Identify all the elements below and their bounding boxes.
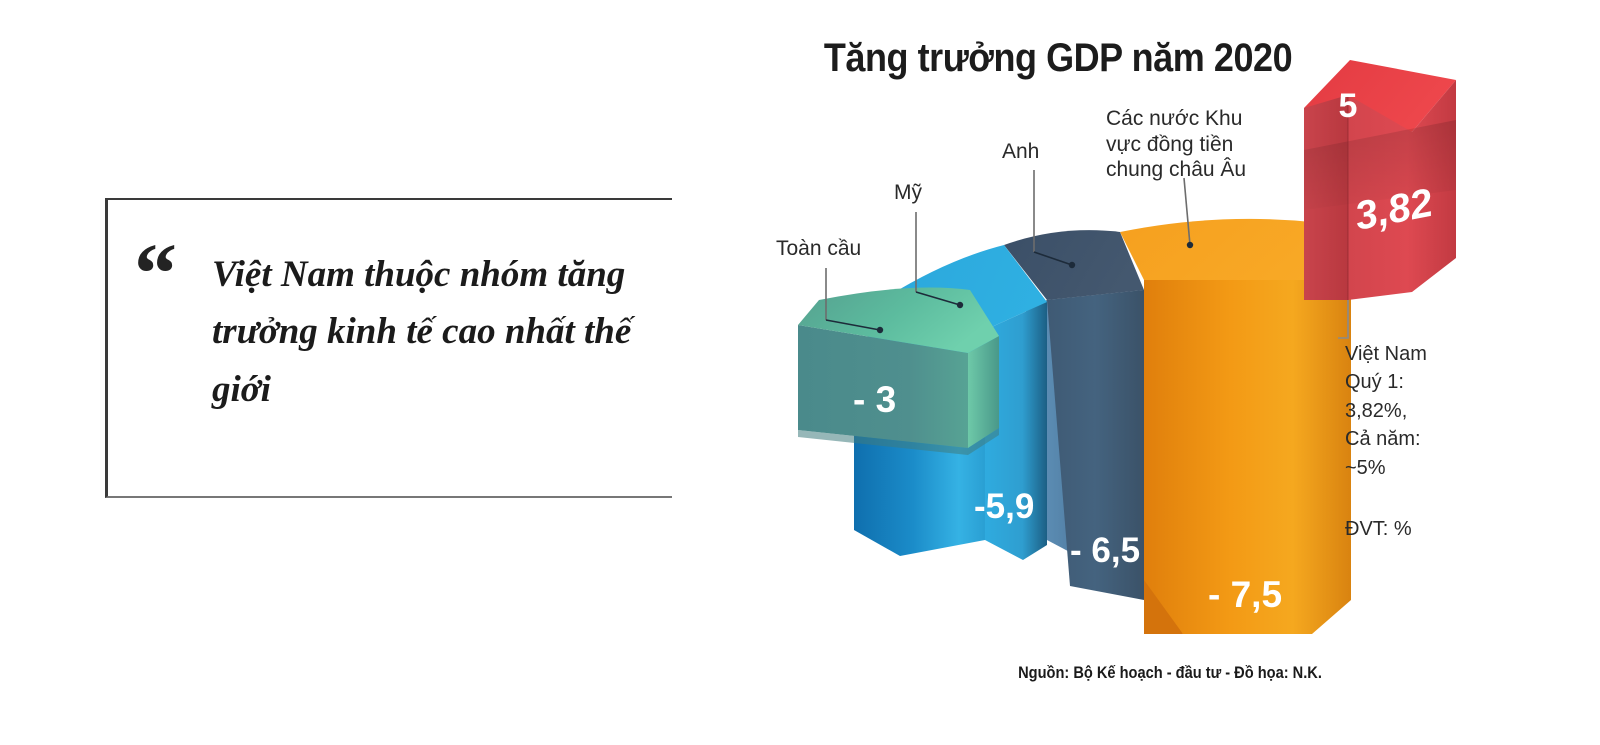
leader-dot-uk — [1069, 262, 1075, 268]
category-label-uk: Anh — [1002, 139, 1039, 165]
bar-global: - 3 — [798, 288, 999, 455]
leader-dot-global — [877, 327, 883, 333]
source-credit: Nguồn: Bộ Kế hoạch - đầu tư - Đồ họa: N.… — [929, 663, 1411, 683]
bar-vietnam: 5 3,82 — [1304, 60, 1456, 300]
category-label-global: Toàn cầu — [776, 236, 861, 262]
pull-quote-text: Việt Nam thuộc nhóm tăng trưởng kinh tế … — [212, 246, 662, 418]
pull-quote-box: “ Việt Nam thuộc nhóm tăng trưởng kinh t… — [105, 198, 672, 498]
bar-value-eurozone: - 7,5 — [1208, 574, 1282, 615]
vietnam-annotation: Việt Nam Quý 1: 3,82%, Cả năm: ~5% — [1345, 340, 1475, 482]
bar-value-usa: -5,9 — [974, 487, 1034, 526]
bar-value-vietnam-year: 5 — [1339, 87, 1358, 125]
category-label-usa: Mỹ — [894, 180, 922, 206]
infographic-root: “ Việt Nam thuộc nhóm tăng trưởng kinh t… — [0, 0, 1600, 745]
leader-dot-euro — [1187, 242, 1193, 248]
category-label-eurozone: Các nước Khu vực đồng tiền chung châu Âu — [1106, 106, 1281, 183]
bar-value-uk: - 6,5 — [1070, 531, 1140, 570]
leader-dot-usa — [957, 302, 963, 308]
chart-container: Tăng trưởng GDP năm 2020 — [740, 0, 1600, 745]
unit-note: ĐVT: % — [1345, 518, 1412, 541]
quote-mark-icon: “ — [134, 248, 174, 300]
bar-value-global: - 3 — [853, 379, 896, 420]
